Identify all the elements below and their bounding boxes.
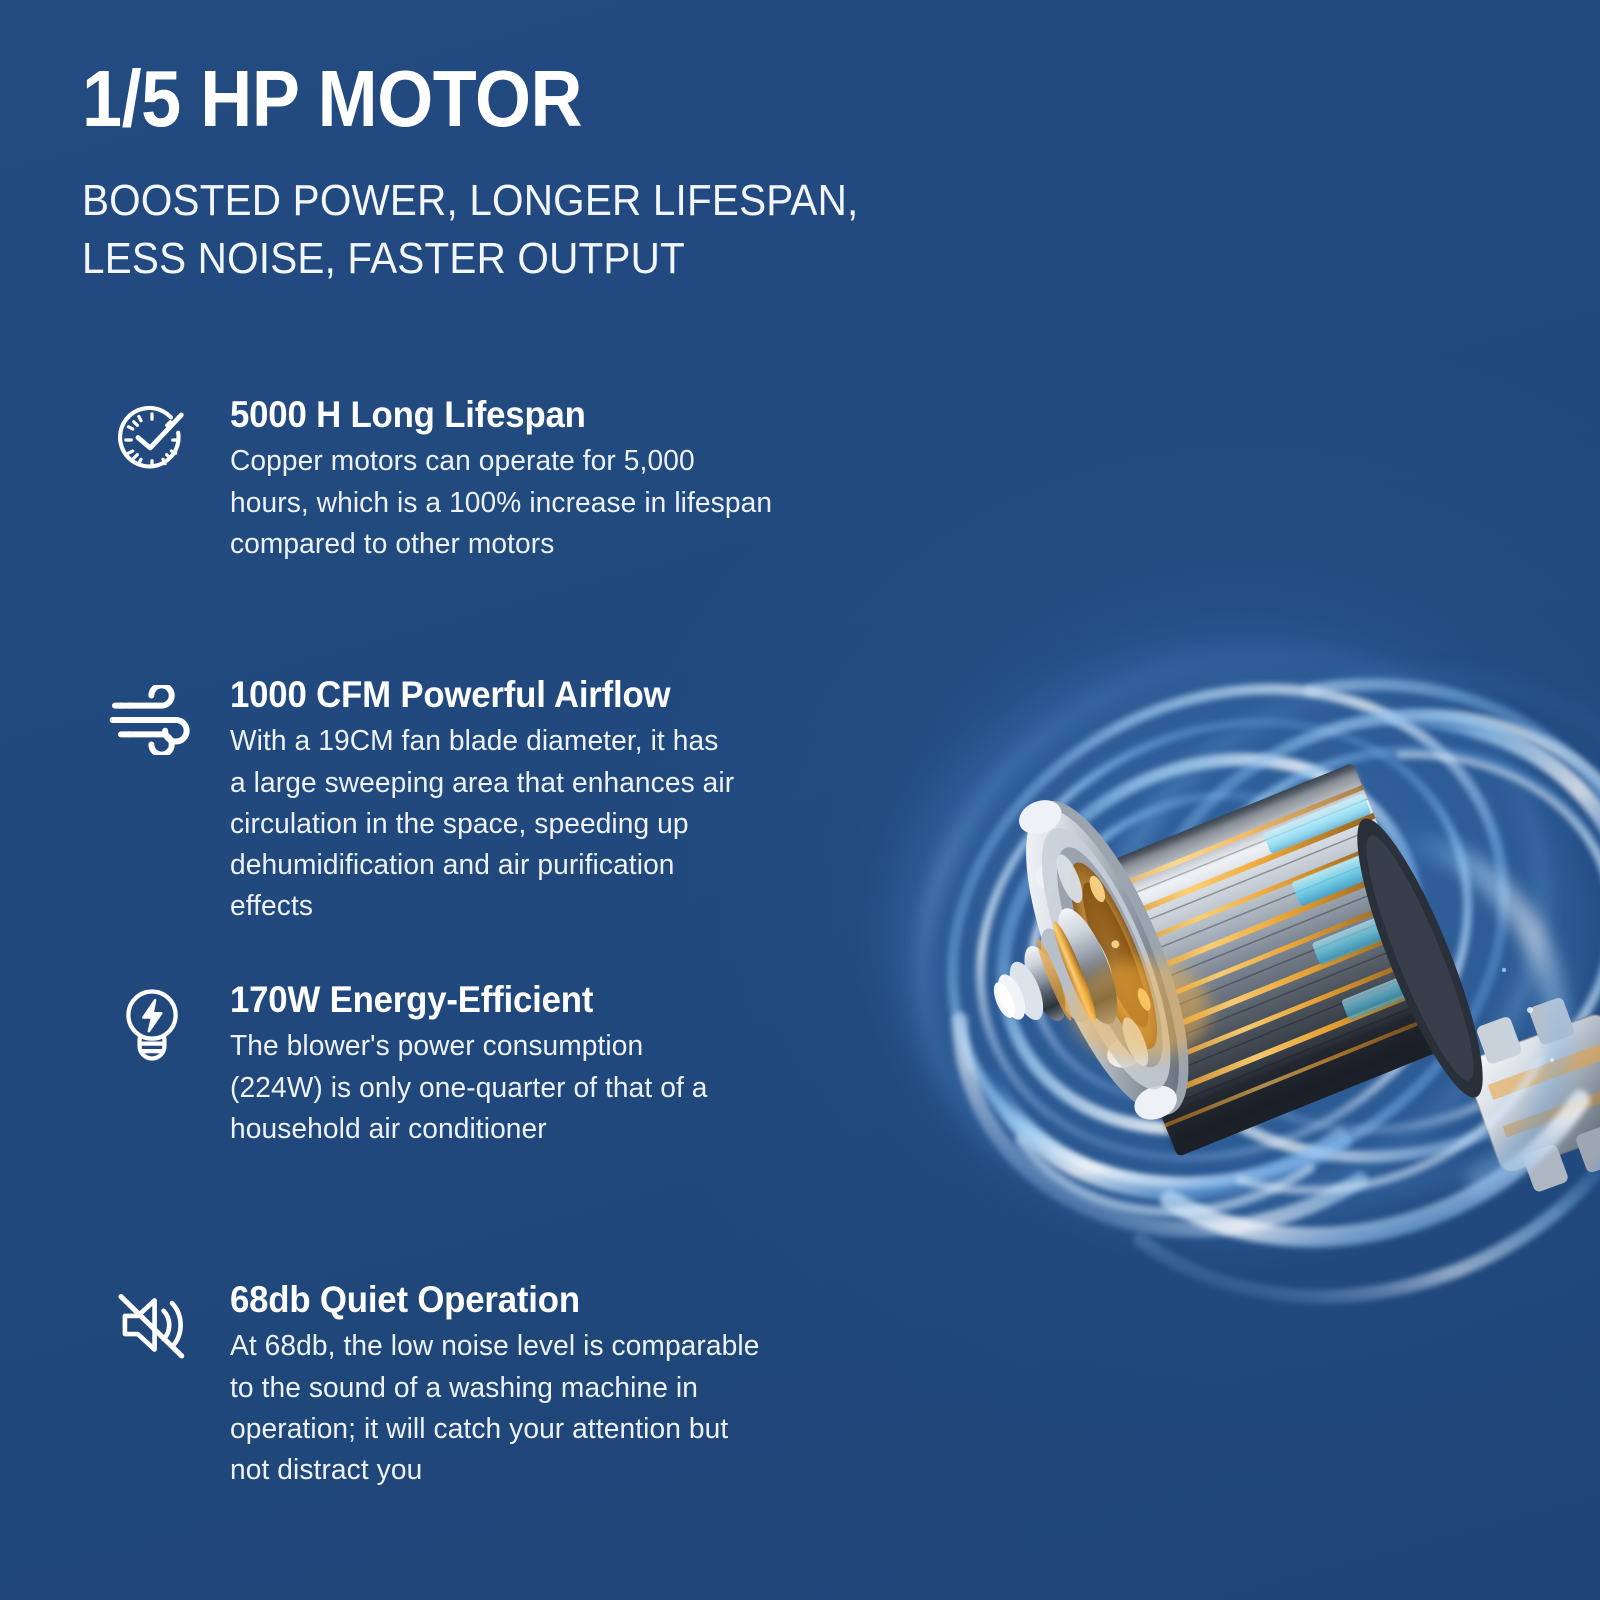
feature-title: 68db Quiet Operation [230,1279,888,1320]
clock-check-icon [0,390,212,490]
motor-assembly [932,763,1600,1202]
feature-body-line: (224W) is only one-quarter of that of a [230,1068,851,1109]
motor-end-bell [932,778,1221,1158]
feature-body-line: household air conditioner [230,1109,851,1150]
feature-body-line: operation; it will catch your attention … [230,1409,851,1450]
product-image-motor [840,540,1600,1340]
feature-body-line: hours, which is a 100% increase in lifes… [230,483,851,524]
feature-text-airflow: 1000 CFM Powerful Airflow With a 19CM fa… [212,670,930,927]
feature-body: With a 19CM fan blade diameter, it has a… [230,721,851,927]
header: 1/5 HP MOTOR BOOSTED POWER, LONGER LIFES… [82,58,1102,288]
speaker-muted-icon [0,1275,212,1375]
lightbulb-bolt-icon [0,975,212,1075]
subtitle-line-1: BOOSTED POWER, LONGER LIFESPAN, [82,172,1020,230]
feature-text-lifespan: 5000 H Long Lifespan Copper motors can o… [212,390,930,565]
page-subtitle: BOOSTED POWER, LONGER LIFESPAN, LESS NOI… [82,172,1020,288]
sparkles [1502,968,1554,1062]
feature-body-line: The blower's power consumption [230,1026,851,1067]
feature-title: 1000 CFM Powerful Airflow [230,674,888,715]
feature-item-quiet: 68db Quiet Operation At 68db, the low no… [0,1275,930,1491]
feature-text-quiet: 68db Quiet Operation At 68db, the low no… [212,1275,930,1491]
feature-text-energy: 170W Energy-Efficient The blower's power… [212,975,930,1150]
feature-item-airflow: 1000 CFM Powerful Airflow With a 19CM fa… [0,670,930,927]
page-title: 1/5 HP MOTOR [82,58,1000,140]
airflow-swirls-back [840,548,1600,1316]
feature-body-line: to the sound of a washing machine in [230,1368,851,1409]
feature-title: 170W Energy-Efficient [230,979,888,1020]
feature-title: 5000 H Long Lifespan [230,394,888,435]
feature-body-line: not distract you [230,1450,851,1491]
feature-body-line: dehumidification and air purification [230,845,851,886]
feature-body: At 68db, the low noise level is comparab… [230,1326,851,1491]
motor-shaft [974,901,1130,1060]
feature-body: Copper motors can operate for 5,000 hour… [230,441,851,565]
infographic-page: 1/5 HP MOTOR BOOSTED POWER, LONGER LIFES… [0,0,1600,1600]
ambient-glow [890,640,1590,1240]
feature-body-line: With a 19CM fan blade diameter, it has [230,721,851,762]
subtitle-line-2: LESS NOISE, FASTER OUTPUT [82,230,1020,288]
airflow-swirls-front [960,684,1600,1296]
wind-airflow-icon [0,670,212,770]
feature-body-line: circulation in the space, speeding up [230,804,851,845]
copper-bloom [1070,960,1210,1060]
feature-body-line: At 68db, the low noise level is comparab… [230,1326,851,1367]
feature-item-energy: 170W Energy-Efficient The blower's power… [0,975,930,1150]
feature-body-line: a large sweeping area that enhances air [230,763,851,804]
feature-body-line: effects [230,886,851,927]
feature-body-line: compared to other motors [230,524,851,565]
feature-item-lifespan: 5000 H Long Lifespan Copper motors can o… [0,390,930,565]
feature-body: The blower's power consumption (224W) is… [230,1026,851,1150]
feature-body-line: Copper motors can operate for 5,000 [230,441,851,482]
